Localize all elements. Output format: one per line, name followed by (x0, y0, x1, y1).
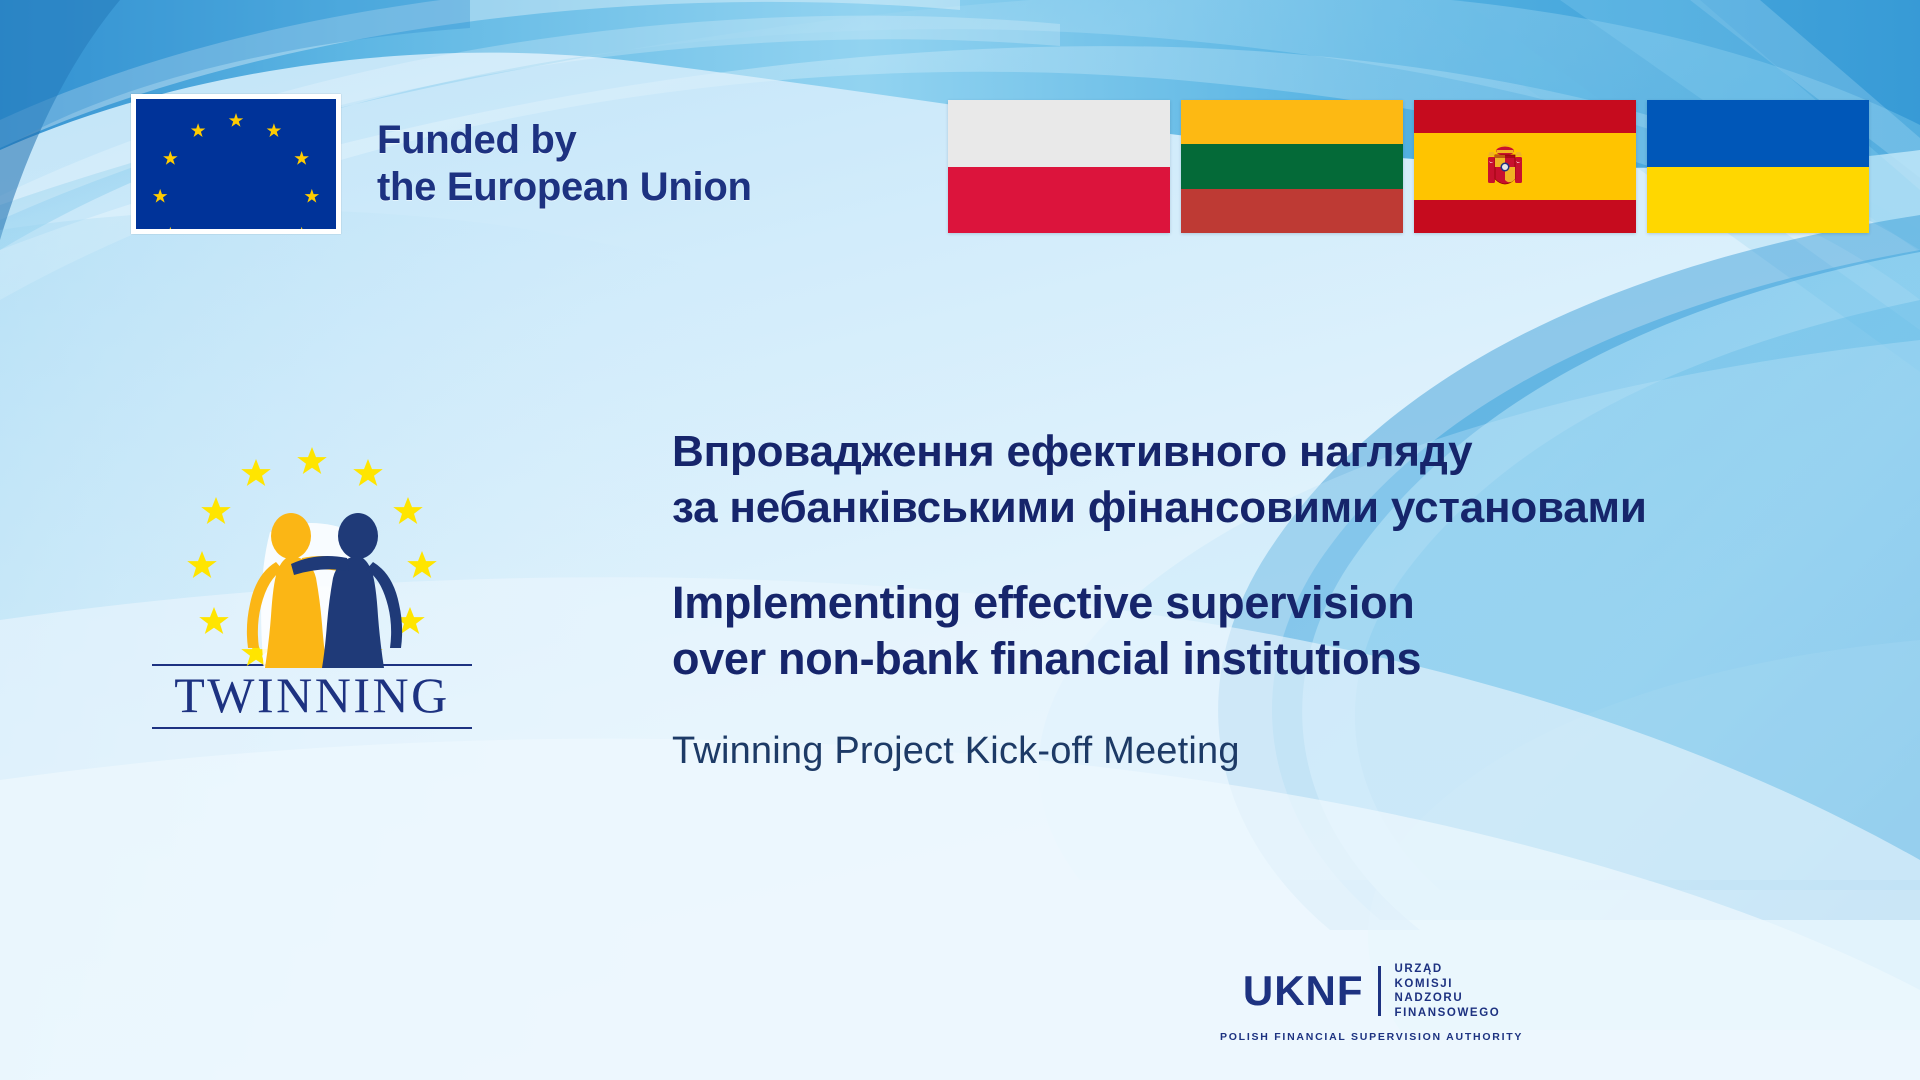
uknf-full-name: URZĄD KOMISJI NADZORU FINANSOWEGO (1395, 962, 1501, 1021)
title-en-line2: over non-bank financial institutions (672, 631, 1647, 688)
title-block: Впровадження ефективного нагляду за неба… (672, 424, 1647, 773)
uknf-name-line4: FINANSOWEGO (1395, 1006, 1501, 1021)
title-uk-line2: за небанківськими фінансовими установами (672, 480, 1647, 536)
lithuania-flag-icon (1181, 100, 1403, 233)
partner-flags (948, 100, 1869, 233)
twinning-wordmark: TWINNING (152, 664, 472, 729)
twinning-figures-stars-icon (152, 440, 472, 668)
uknf-name-line2: KOMISJI (1395, 977, 1501, 992)
spain-flag-icon (1414, 100, 1636, 233)
uknf-name-line1: URZĄD (1395, 962, 1501, 977)
spain-coat-of-arms-icon (1482, 139, 1528, 195)
eu-funding-block: Funded by the European Union (131, 94, 752, 234)
event-subtitle: Twinning Project Kick-off Meeting (672, 730, 1647, 773)
ukraine-flag-icon (1647, 100, 1869, 233)
eu-funding-line1: Funded by (377, 117, 752, 164)
title-english: Implementing effective supervision over … (672, 575, 1647, 688)
poland-flag-icon (948, 100, 1170, 233)
eu-flag-icon (131, 94, 341, 234)
header-logos-row: Funded by the European Union (0, 0, 1920, 250)
title-en-line1: Implementing effective supervision (672, 575, 1647, 632)
uknf-wordmark: UKNF (1243, 970, 1364, 1012)
eu-funding-text: Funded by the European Union (377, 117, 752, 211)
eu-funding-line2: the European Union (377, 164, 752, 211)
title-ukrainian: Впровадження ефективного нагляду за неба… (672, 424, 1647, 537)
uknf-divider (1378, 966, 1381, 1016)
twinning-logo: TWINNING (152, 440, 472, 729)
uknf-logo: UKNF URZĄD KOMISJI NADZORU FINANSOWEGO P… (1220, 962, 1523, 1043)
title-uk-line1: Впровадження ефективного нагляду (672, 424, 1647, 480)
uknf-name-line3: NADZORU (1395, 991, 1501, 1006)
uknf-tagline: POLISH FINANCIAL SUPERVISION AUTHORITY (1220, 1031, 1523, 1043)
